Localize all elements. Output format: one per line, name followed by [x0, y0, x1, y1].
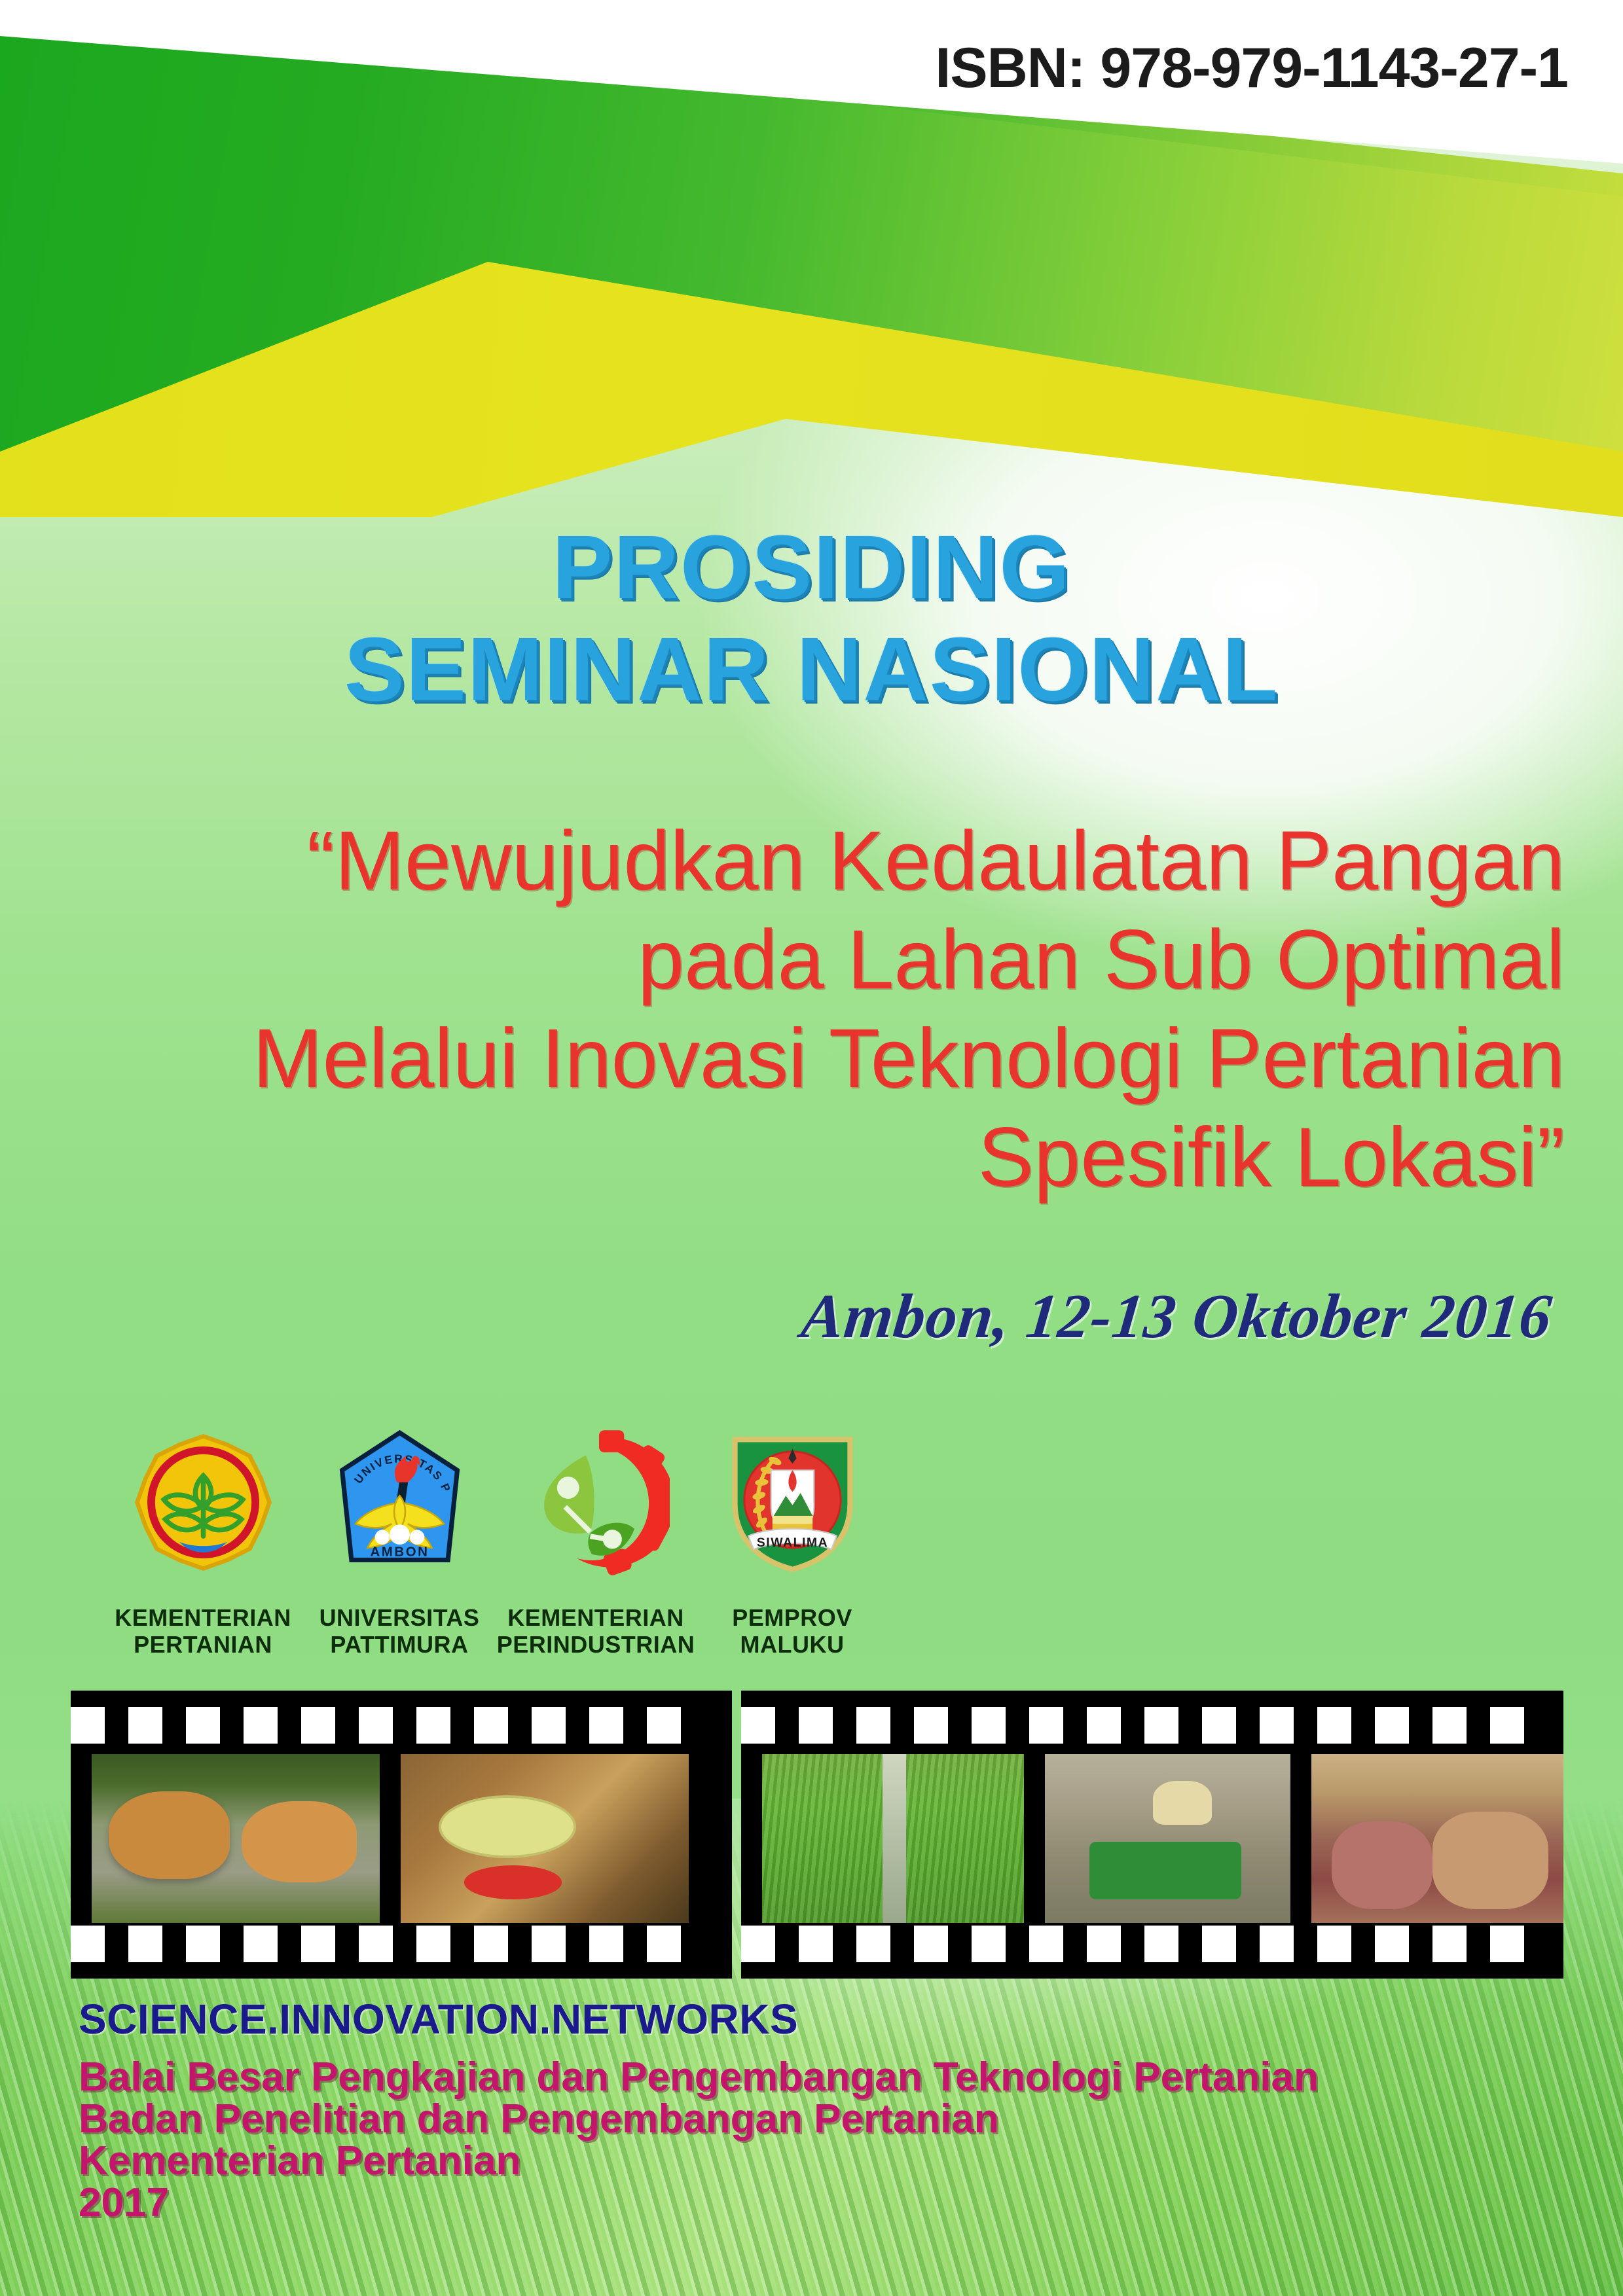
filmstrip-segment-left: [71, 1691, 732, 1979]
filmstrip-perforations-bottom: [71, 1925, 732, 1963]
perforation: [1144, 1707, 1178, 1744]
perforation: [914, 1707, 948, 1744]
perforation: [856, 1926, 890, 1962]
title-line-1: PROSIDING: [0, 517, 1623, 619]
logo-label-line-1: PEMPROV: [732, 1604, 852, 1631]
nutmeg-photo: [401, 1754, 689, 1923]
isbn-text: ISBN: 978-979-1143-27-1: [0, 36, 1568, 101]
universitas-pattimura-icon: UNIVERSITAS PATTIMURA AMBON: [301, 1404, 498, 1600]
perforation: [128, 1926, 162, 1962]
shallots-photo: [1311, 1754, 1563, 1923]
perforation: [416, 1926, 450, 1962]
perforation: [1202, 1926, 1236, 1962]
svg-text:AMBON: AMBON: [370, 1544, 429, 1559]
book-cover: ISBN: 978-979-1143-27-1 PROSIDING SEMINA…: [0, 0, 1623, 2296]
perforation: [914, 1926, 948, 1962]
logo-label-universitas-pattimura: UNIVERSITAS PATTIMURA: [319, 1604, 480, 1659]
perforation: [972, 1707, 1006, 1744]
perforation: [1490, 1707, 1524, 1744]
logo-label-pemprov-maluku: PEMPROV MALUKU: [732, 1604, 852, 1659]
perforation: [416, 1707, 450, 1744]
perforation: [856, 1707, 890, 1744]
farmer-tiller-photo-art: [1045, 1754, 1290, 1923]
title-line-2: SEMINAR NASIONAL: [0, 619, 1623, 721]
perforation: [244, 1707, 278, 1744]
nutmeg-photo-art: [401, 1754, 689, 1923]
event-date: Ambon, 12-13 Oktober 2016: [0, 1280, 1556, 1352]
cattle-photo: [92, 1754, 380, 1923]
logo-label-line-1: KEMENTERIAN: [115, 1604, 291, 1631]
logo-item-universitas-pattimura: UNIVERSITAS PATTIMURA AMBON: [301, 1404, 498, 1659]
logo-label-kementerian-perindustrian: KEMENTERIAN PERINDUSTRIAN: [497, 1604, 695, 1659]
perforation: [1375, 1926, 1409, 1962]
filmstrip-perforations-bottom: [741, 1925, 1563, 1963]
perforation: [1260, 1926, 1294, 1962]
perforation: [359, 1926, 393, 1962]
perforation: [799, 1926, 833, 1962]
perforation: [1375, 1707, 1409, 1744]
perforation: [1144, 1926, 1178, 1962]
logo-label-line-2: PATTIMURA: [319, 1631, 480, 1658]
logo-row: KEMENTERIAN PERTANIAN UNIVERSITAS PATTIM…: [105, 1404, 890, 1659]
perforation: [474, 1707, 508, 1744]
kementerian-perindustrian-icon: [498, 1404, 694, 1600]
imprint-line-3: Kementerian Pertanian: [79, 2140, 1519, 2182]
imprint-line-1: Balai Besar Pengkajian dan Pengembangan …: [79, 2056, 1519, 2098]
perforation: [647, 1926, 681, 1962]
perforation: [799, 1707, 833, 1744]
logo-item-kementerian-pertanian: KEMENTERIAN PERTANIAN: [105, 1404, 301, 1659]
shallots-photo-art: [1311, 1754, 1563, 1923]
logo-label-line-1: KEMENTERIAN: [497, 1604, 695, 1631]
perforation: [1029, 1707, 1063, 1744]
tagline-text: SCIENCE.INNOVATION.NETWORKS: [79, 1995, 798, 2043]
perforation: [1087, 1926, 1121, 1962]
perforation: [1317, 1926, 1351, 1962]
seminar-theme: “Mewujudkan Kedaulatan Pangan pada Lahan…: [59, 812, 1578, 1207]
filmstrip: [71, 1691, 1563, 1979]
perforation: [589, 1707, 623, 1744]
perforation: [1490, 1926, 1524, 1962]
kementerian-pertanian-icon: [105, 1404, 301, 1600]
filmstrip-perforations-top: [71, 1706, 732, 1744]
perforation: [532, 1707, 566, 1744]
rice-field-photo-art: [762, 1754, 1024, 1923]
logo-label-line-2: PERINDUSTRIAN: [497, 1631, 695, 1658]
logo-label-kementerian-pertanian: KEMENTERIAN PERTANIAN: [115, 1604, 291, 1659]
svg-text:SIWALIMA: SIWALIMA: [756, 1535, 828, 1550]
perforation: [359, 1707, 393, 1744]
perforation: [186, 1707, 220, 1744]
perforation: [71, 1926, 105, 1962]
perforation: [1029, 1926, 1063, 1962]
logo-item-pemprov-maluku: SIWALIMA PEMPROV MALUKU: [694, 1404, 890, 1659]
perforation: [741, 1707, 775, 1744]
perforation: [741, 1926, 775, 1962]
filmstrip-frames-right: [741, 1764, 1563, 1908]
perforation: [128, 1707, 162, 1744]
logo-label-line-2: MALUKU: [732, 1631, 852, 1658]
perforation: [1432, 1926, 1467, 1962]
publisher-imprint: Balai Besar Pengkajian dan Pengembangan …: [79, 2056, 1519, 2223]
logo-label-line-2: PERTANIAN: [115, 1631, 291, 1658]
theme-line-1: “Mewujudkan Kedaulatan Pangan: [59, 812, 1565, 910]
logo-label-line-1: UNIVERSITAS: [319, 1604, 480, 1631]
rice-field-photo: [762, 1754, 1024, 1923]
perforation: [647, 1707, 681, 1744]
filmstrip-frames-left: [71, 1764, 732, 1908]
pemprov-maluku-icon: SIWALIMA: [694, 1404, 890, 1600]
perforation: [474, 1926, 508, 1962]
perforation: [1202, 1707, 1236, 1744]
theme-line-4: Spesifik Lokasi”: [59, 1108, 1565, 1207]
perforation: [1260, 1707, 1294, 1744]
perforation: [301, 1926, 335, 1962]
imprint-year: 2017: [79, 2182, 1519, 2224]
imprint-line-2: Badan Penelitian dan Pengembangan Pertan…: [79, 2098, 1519, 2140]
perforation: [186, 1926, 220, 1962]
theme-line-3: Melalui Inovasi Teknologi Pertanian: [59, 1009, 1565, 1108]
logo-item-kementerian-perindustrian: KEMENTERIAN PERINDUSTRIAN: [498, 1404, 694, 1659]
perforation: [1087, 1707, 1121, 1744]
perforation: [1432, 1707, 1467, 1744]
farmer-tiller-photo: [1045, 1754, 1290, 1923]
perforation: [71, 1707, 105, 1744]
perforation: [972, 1926, 1006, 1962]
perforation: [244, 1926, 278, 1962]
filmstrip-seam: [732, 1691, 741, 1979]
perforation: [589, 1926, 623, 1962]
perforation: [301, 1707, 335, 1744]
filmstrip-perforations-top: [741, 1706, 1563, 1744]
page-title: PROSIDING SEMINAR NASIONAL: [0, 517, 1623, 721]
cattle-photo-art: [92, 1754, 380, 1923]
perforation: [532, 1926, 566, 1962]
theme-line-2: pada Lahan Sub Optimal: [59, 910, 1565, 1009]
perforation: [1317, 1707, 1351, 1744]
filmstrip-segment-right: [741, 1691, 1563, 1979]
